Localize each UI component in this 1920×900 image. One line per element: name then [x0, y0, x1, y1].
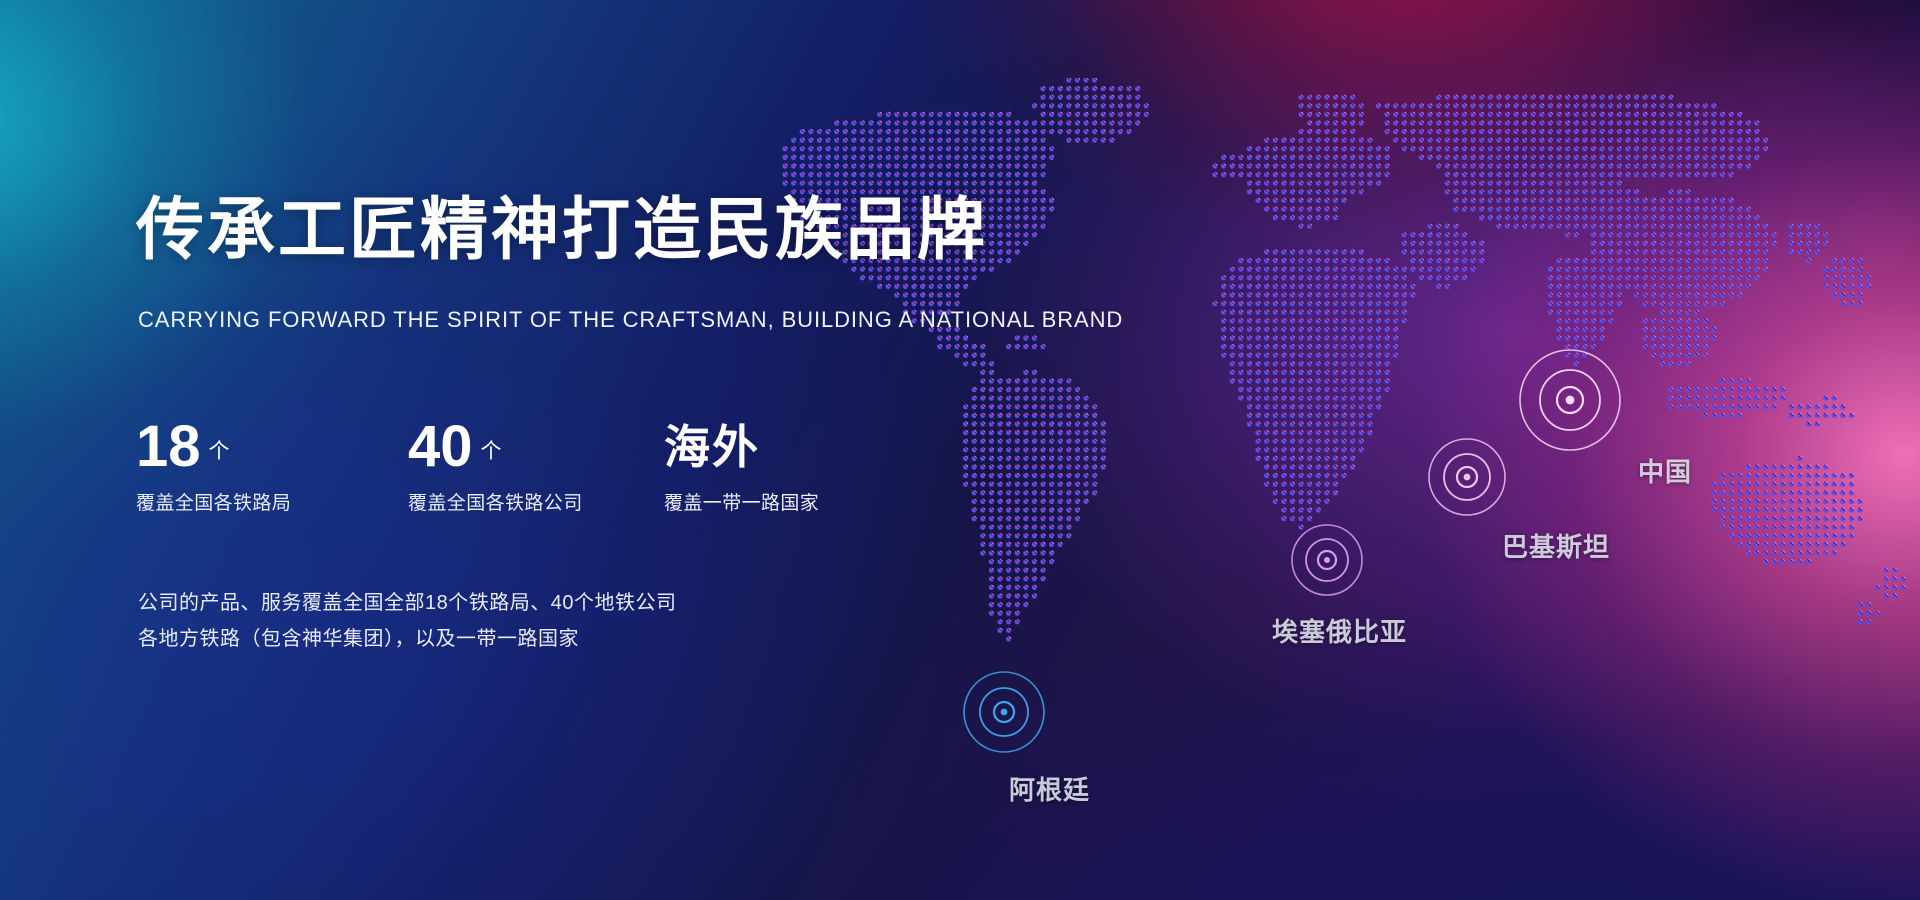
marker-rings-icon — [1427, 437, 1507, 517]
stat-value-row: 40 个 — [408, 412, 583, 474]
stat-description: 覆盖一带一路国家 — [664, 488, 819, 515]
stat-item-overseas: 海外 覆盖一带一路国家 — [664, 412, 819, 515]
paragraph-line-1: 公司的产品、服务覆盖全国全部18个铁路局、40个地铁公司 — [138, 585, 677, 621]
stat-item-railway-companies: 40 个 覆盖全国各铁路公司 — [408, 412, 583, 515]
content-column: 传承工匠精神打造民族品牌 CARRYING FORWARD THE SPIRIT… — [136, 0, 996, 900]
marker-rings-icon — [1518, 348, 1622, 452]
map-marker-label-china: 中国 — [1638, 452, 1692, 489]
stat-number: 18 — [136, 419, 201, 474]
map-marker-pakistan[interactable]: 巴基斯坦 — [1427, 437, 1507, 517]
stat-number: 海外 — [664, 422, 760, 474]
map-marker-label-ethiopia: 埃塞俄比亚 — [1272, 612, 1407, 649]
stat-item-railway-bureaus: 18 个 覆盖全国各铁路局 — [136, 412, 291, 515]
stat-value-row: 海外 — [664, 412, 819, 474]
stat-unit: 个 — [481, 435, 502, 465]
map-marker-china[interactable]: 中国 — [1518, 348, 1622, 452]
stat-value-row: 18 个 — [136, 412, 291, 474]
stat-description: 覆盖全国各铁路局 — [136, 488, 291, 515]
description-paragraph: 公司的产品、服务覆盖全国全部18个铁路局、40个地铁公司 各地方铁路（包含神华集… — [138, 585, 677, 657]
stat-unit: 个 — [209, 435, 230, 465]
stat-number: 40 — [408, 419, 473, 474]
marker-rings-icon — [1290, 523, 1364, 597]
map-marker-label-pakistan: 巴基斯坦 — [1502, 527, 1610, 564]
map-marker-label-argentina: 阿根廷 — [1009, 770, 1090, 807]
stat-description: 覆盖全国各铁路公司 — [408, 488, 583, 515]
hero-banner: 中国巴基斯坦埃塞俄比亚阿根廷 传承工匠精神打造民族品牌 CARRYING FOR… — [0, 0, 1920, 900]
map-marker-ethiopia[interactable]: 埃塞俄比亚 — [1290, 523, 1364, 597]
paragraph-line-2: 各地方铁路（包含神华集团），以及一带一路国家 — [138, 621, 677, 657]
page-subtitle: CARRYING FORWARD THE SPIRIT OF THE CRAFT… — [138, 307, 1123, 333]
page-title: 传承工匠精神打造民族品牌 — [136, 196, 988, 264]
